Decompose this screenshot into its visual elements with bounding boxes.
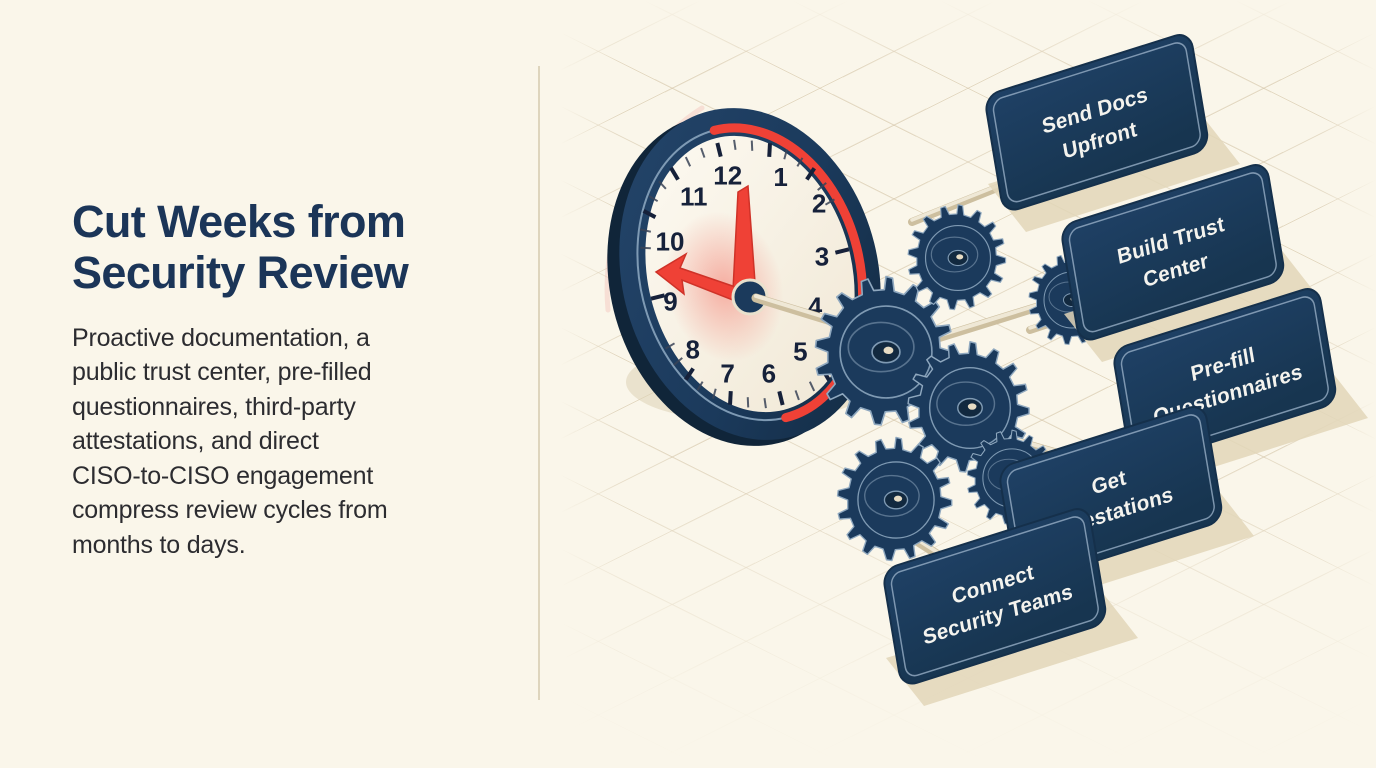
clock-numeral-12: 12 — [713, 161, 742, 191]
vertical-divider — [538, 66, 540, 700]
clock-numeral-5: 5 — [793, 336, 807, 366]
illustration-panel: 12 1 2 3 4 5 6 7 8 9 10 11 — [560, 0, 1376, 768]
headline-line-1: Cut Weeks from — [72, 196, 405, 247]
clock-numeral-3: 3 — [815, 241, 829, 271]
body-line-6: compress review cycles from — [72, 496, 388, 524]
illustration-svg: 12 1 2 3 4 5 6 7 8 9 10 11 — [560, 0, 1376, 768]
body-line-1: Proactive documentation, a — [72, 324, 370, 352]
gear-lower-left — [838, 437, 952, 560]
body-line-5: CISO-to-CISO engagement — [72, 462, 373, 490]
clock-numeral-1: 1 — [773, 162, 787, 192]
body-line-7: months to days. — [72, 531, 245, 559]
clock-group: 12 1 2 3 4 5 6 7 8 9 10 11 — [573, 80, 915, 474]
clock-numeral-10: 10 — [656, 227, 685, 257]
headline-line-2: Security Review — [72, 247, 408, 298]
body-line-2: public trust center, pre-filled — [72, 358, 372, 386]
page-title: Cut Weeks from Security Review — [72, 196, 492, 299]
clock-numeral-7: 7 — [720, 359, 734, 389]
clock-numeral-6: 6 — [762, 359, 776, 389]
body-line-3: questionnaires, third-party — [72, 393, 356, 421]
clock-numeral-2: 2 — [812, 188, 826, 218]
clock-numeral-8: 8 — [685, 334, 699, 364]
clock-numeral-11: 11 — [680, 182, 708, 212]
text-column: Cut Weeks from Security Review Proactive… — [72, 196, 492, 562]
slide-canvas: 12 1 2 3 4 5 6 7 8 9 10 11 — [0, 0, 1376, 768]
body-line-4: attestations, and direct — [72, 427, 319, 455]
clock-numeral-9: 9 — [663, 286, 677, 316]
body-paragraph: Proactive documentation, a public trust … — [72, 321, 492, 563]
